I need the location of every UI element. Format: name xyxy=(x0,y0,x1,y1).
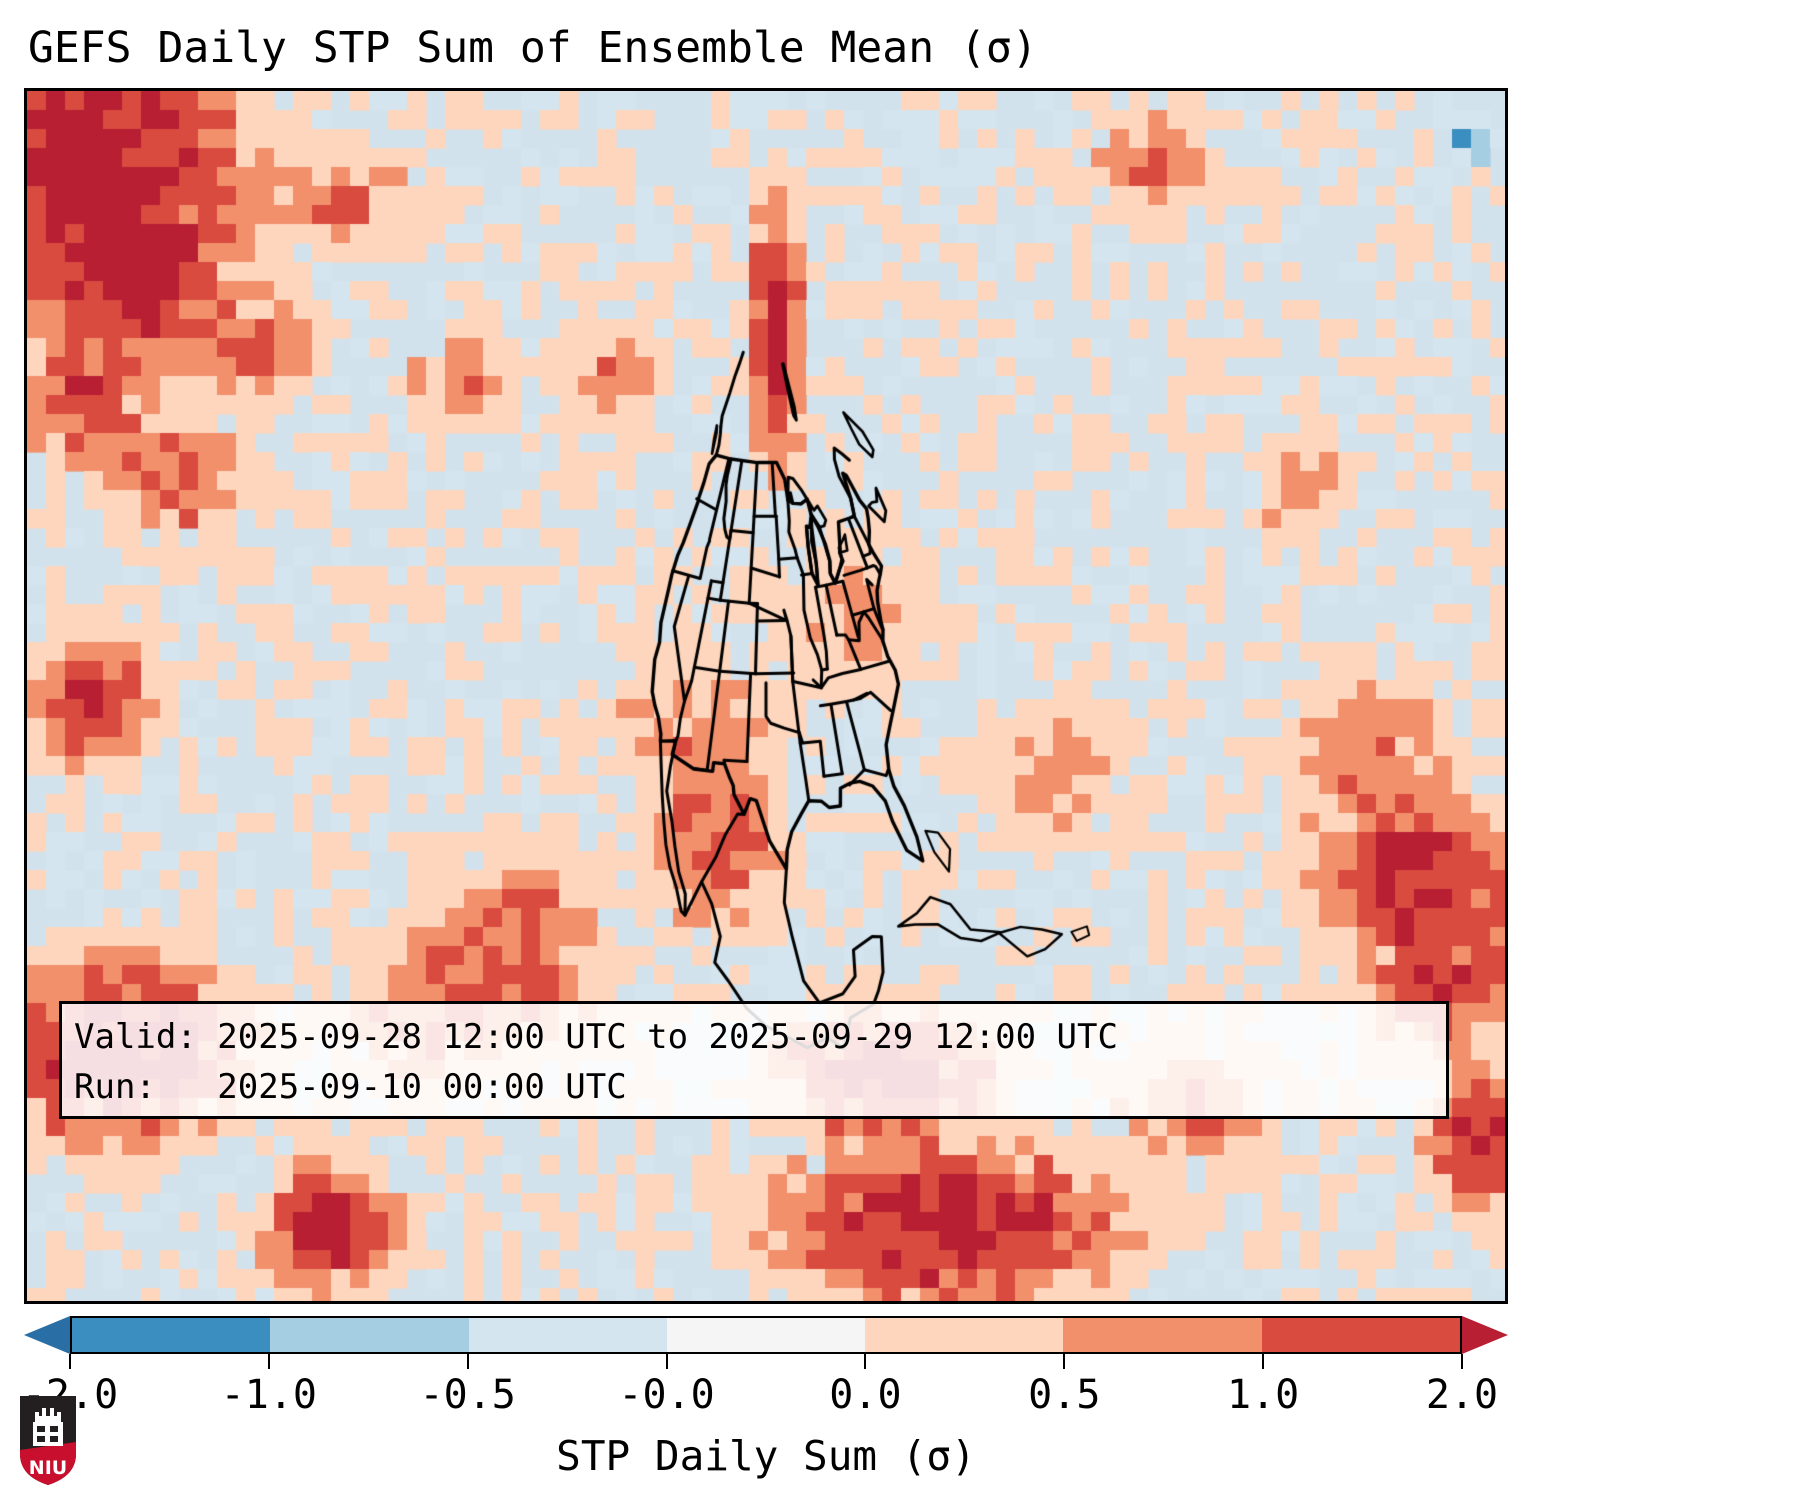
colorbar-segment-1 xyxy=(270,1318,468,1352)
colorbar-segments[interactable] xyxy=(70,1316,1462,1354)
colorbar-tick-7 xyxy=(1461,1354,1463,1369)
colorbar-segment-4 xyxy=(865,1318,1063,1352)
colorbar-tick-2 xyxy=(467,1354,469,1369)
page-title: GEFS Daily STP Sum of Ensemble Mean (σ) xyxy=(28,18,1768,78)
colorbar-segment-2 xyxy=(469,1318,667,1352)
colorbar-tick-3 xyxy=(666,1354,668,1369)
colorbar-over-arrow-icon xyxy=(1462,1316,1508,1354)
map-panel[interactable]: Valid: 2025-09-28 12:00 UTC to 2025-09-2… xyxy=(24,88,1508,1304)
colorbar-tick-4 xyxy=(864,1354,866,1369)
colorbar[interactable] xyxy=(24,1316,1508,1356)
niu-logo-text: NIU xyxy=(29,1457,67,1479)
niu-logo-icon: NIU xyxy=(16,1392,80,1488)
colorbar-ticklabel-3: -0.0 xyxy=(618,1372,714,1418)
colorbar-ticklabel-5: 0.5 xyxy=(1028,1372,1100,1418)
colorbar-segment-3 xyxy=(667,1318,865,1352)
run-line: Run: 2025-09-10 00:00 UTC xyxy=(74,1062,1434,1112)
colorbar-ticklabel-4: 0.0 xyxy=(829,1372,901,1418)
colorbar-tick-5 xyxy=(1063,1354,1065,1369)
figure-root: GEFS Daily STP Sum of Ensemble Mean (σ) … xyxy=(0,0,1803,1506)
valid-run-infobox: Valid: 2025-09-28 12:00 UTC to 2025-09-2… xyxy=(59,1001,1449,1119)
colorbar-segment-6 xyxy=(1262,1318,1460,1352)
colorbar-tickmarks xyxy=(24,1354,1508,1370)
colorbar-ticklabel-2: -0.5 xyxy=(420,1372,516,1418)
colorbar-ticklabel-6: 1.0 xyxy=(1227,1372,1299,1418)
colorbar-ticklabel-7: 2.0 xyxy=(1426,1372,1498,1418)
colorbar-segment-0 xyxy=(72,1318,270,1352)
colorbar-tick-1 xyxy=(268,1354,270,1369)
colorbar-axis-label: STP Daily Sum (σ) xyxy=(24,1428,1508,1484)
colorbar-tick-0 xyxy=(69,1354,71,1369)
colorbar-segment-5 xyxy=(1063,1318,1261,1352)
colorbar-tick-6 xyxy=(1262,1354,1264,1369)
stp-heatmap-canvas[interactable] xyxy=(27,91,1505,1301)
valid-line: Valid: 2025-09-28 12:00 UTC to 2025-09-2… xyxy=(74,1012,1434,1062)
colorbar-under-arrow-icon xyxy=(24,1316,70,1354)
colorbar-ticklabel-1: -1.0 xyxy=(221,1372,317,1418)
colorbar-ticklabels: -2.0-1.0-0.5-0.00.00.51.02.0 xyxy=(24,1372,1508,1418)
